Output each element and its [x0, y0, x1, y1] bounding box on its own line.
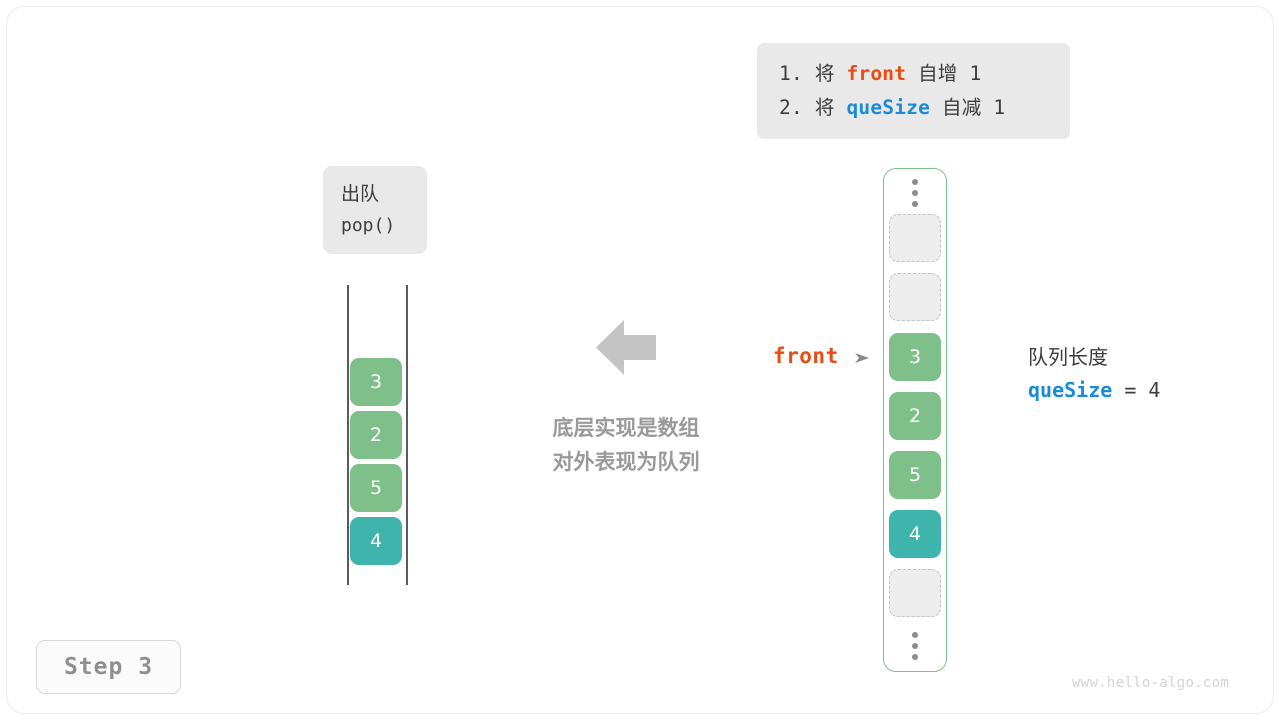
quesize-variable: queSize — [1028, 378, 1112, 402]
array-cell-2-value: 3 — [909, 346, 921, 368]
array-cell-5-value: 4 — [909, 523, 921, 545]
queue-cell-0-value: 3 — [370, 371, 382, 393]
center-caption: 底层实现是数组 对外表现为队列 — [529, 411, 723, 479]
queue-rail-right — [406, 285, 408, 585]
queue-cell-1-value: 2 — [370, 424, 382, 446]
operations-callout: 1. 将 front 自增 1 2. 将 queSize 自减 1 — [757, 43, 1070, 139]
queue-cell-3-value: 4 — [370, 530, 382, 552]
op2-suffix: 自减 1 — [930, 96, 1005, 119]
triangle-right-icon — [853, 349, 871, 367]
queue-cell-0: 3 — [350, 358, 402, 406]
queue-length-annotation: 队列长度 queSize = 4 — [1028, 342, 1160, 408]
array-cell-4: 5 — [889, 451, 941, 499]
array-cell-2: 3 — [889, 333, 941, 381]
op1-suffix: 自增 1 — [906, 62, 981, 85]
queue-cell-2-value: 5 — [370, 477, 382, 499]
quesize-value: 4 — [1148, 378, 1160, 402]
array-cell-5: 4 — [889, 510, 941, 558]
array-top-ellipsis-icon — [909, 179, 921, 207]
array-cell-3-value: 2 — [909, 405, 921, 427]
op1-prefix: 1. 将 — [779, 62, 846, 85]
dequeue-arrow-icon — [596, 320, 656, 375]
pop-method: pop() — [341, 210, 427, 241]
watermark: www.hello-algo.com — [1072, 675, 1229, 691]
step-badge-label: Step 3 — [64, 654, 153, 680]
queue-length-title: 队列长度 — [1028, 342, 1160, 372]
op2-prefix: 2. 将 — [779, 96, 846, 119]
operation-step-2: 2. 将 queSize 自减 1 — [779, 91, 1048, 125]
operation-step-1: 1. 将 front 自增 1 — [779, 57, 1048, 91]
op1-keyword-front: front — [846, 62, 906, 85]
queue-length-expression: queSize = 4 — [1028, 372, 1160, 408]
quesize-equals: = — [1112, 378, 1148, 402]
diagram-canvas: 1. 将 front 自增 1 2. 将 queSize 自减 1 出队 pop… — [0, 0, 1280, 720]
pop-title: 出队 — [341, 179, 427, 210]
array-cell-6 — [889, 569, 941, 617]
array-bottom-ellipsis-icon — [909, 632, 921, 660]
queue-cell-2: 5 — [350, 464, 402, 512]
queue-rail-left — [347, 285, 349, 585]
op2-keyword-quesize: queSize — [846, 96, 930, 119]
array-cell-1 — [889, 273, 941, 321]
queue-cell-3: 4 — [350, 517, 402, 565]
front-pointer-label: front — [773, 344, 839, 368]
caption-line-1: 底层实现是数组 — [529, 411, 723, 445]
queue-cell-1: 2 — [350, 411, 402, 459]
caption-line-2: 对外表现为队列 — [529, 445, 723, 479]
pop-operation-label: 出队 pop() — [323, 166, 427, 254]
array-cell-4-value: 5 — [909, 464, 921, 486]
array-cell-0 — [889, 214, 941, 262]
step-badge: Step 3 — [36, 640, 181, 694]
array-cell-3: 2 — [889, 392, 941, 440]
